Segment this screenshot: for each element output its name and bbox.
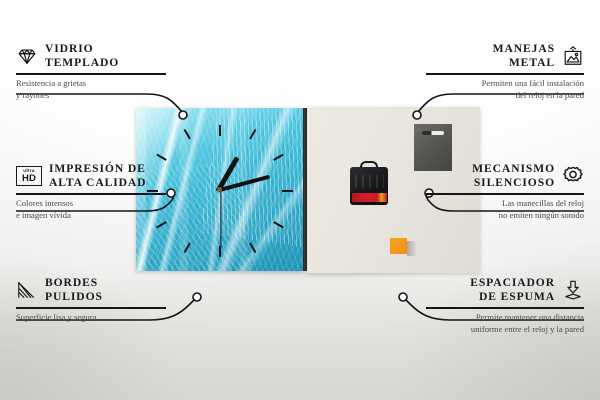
callout-espaciador-espuma[interactable]: ESPACIADOR DE ESPUMA Permite mantener un… — [426, 276, 584, 335]
foam-spacer — [390, 238, 407, 254]
clock-second-hand — [220, 190, 221, 247]
mechanism-detail — [355, 175, 384, 188]
clock-mechanism — [350, 167, 388, 205]
callout-description: Resistencia a grietas y rayones — [16, 78, 166, 102]
polished-edges-icon — [16, 279, 38, 301]
callout-title: MECANISMO SILENCIOSO — [472, 162, 555, 190]
ultra-hd-icon: ultra HD — [16, 166, 42, 186]
callout-bordes-pulidos[interactable]: BORDES PULIDOS Superficie lisa y segura — [16, 276, 166, 324]
foam-spacer-shadow — [407, 241, 417, 256]
diamond-icon — [16, 45, 38, 67]
mechanism-hanging-loop — [360, 161, 378, 169]
callout-head: VIDRIO TEMPLADO — [16, 42, 166, 70]
clock-center-pin — [217, 187, 222, 192]
hanger-slot — [422, 131, 444, 135]
callout-description: Permite mantener una distancia uniforme … — [426, 312, 584, 336]
callout-rule — [16, 307, 166, 308]
callout-manejas-metal[interactable]: MANEJAS METAL Permiten una fácil instala… — [426, 42, 584, 101]
callout-impresion-alta-calidad[interactable]: ultra HD IMPRESIÓN DE ALTA CALIDAD Color… — [16, 162, 166, 221]
callout-description: Colores intensos e imagen vívida — [16, 198, 166, 222]
callout-title: ESPACIADOR DE ESPUMA — [470, 276, 555, 304]
callout-mecanismo-silencioso[interactable]: MECANISMO SILENCIOSO Las manecillas del … — [426, 162, 584, 221]
infographic-canvas: VIDRIO TEMPLADO Resistencia a grietas y … — [0, 0, 600, 400]
ultra-hd-main-label: HD — [22, 174, 36, 184]
callout-head: ESPACIADOR DE ESPUMA — [426, 276, 584, 304]
callout-rule — [16, 193, 166, 194]
callout-head: ultra HD IMPRESIÓN DE ALTA CALIDAD — [16, 162, 166, 190]
callout-rule — [426, 73, 584, 74]
callout-head: BORDES PULIDOS — [16, 276, 166, 304]
mechanism-label — [352, 193, 387, 202]
callout-description: Superficie lisa y segura — [16, 312, 166, 324]
callout-head: MANEJAS METAL — [426, 42, 584, 70]
callout-head: MECANISMO SILENCIOSO — [426, 162, 584, 190]
callout-vidrio-templado[interactable]: VIDRIO TEMPLADO Resistencia a grietas y … — [16, 42, 166, 101]
callout-description: Permiten una fácil instalación del reloj… — [426, 78, 584, 102]
arrow-down-pad-icon — [562, 279, 584, 301]
callout-rule — [16, 73, 166, 74]
hanging-frame-icon — [562, 45, 584, 67]
callout-rule — [426, 307, 584, 308]
callout-title: BORDES PULIDOS — [45, 276, 103, 304]
gear-icon — [562, 165, 584, 187]
callout-description: Las manecillas del reloj no emiten ningú… — [426, 198, 584, 222]
callout-rule — [426, 193, 584, 194]
callout-title: MANEJAS METAL — [493, 42, 555, 70]
callout-title: VIDRIO TEMPLADO — [45, 42, 119, 70]
callout-title: IMPRESIÓN DE ALTA CALIDAD — [49, 162, 146, 190]
